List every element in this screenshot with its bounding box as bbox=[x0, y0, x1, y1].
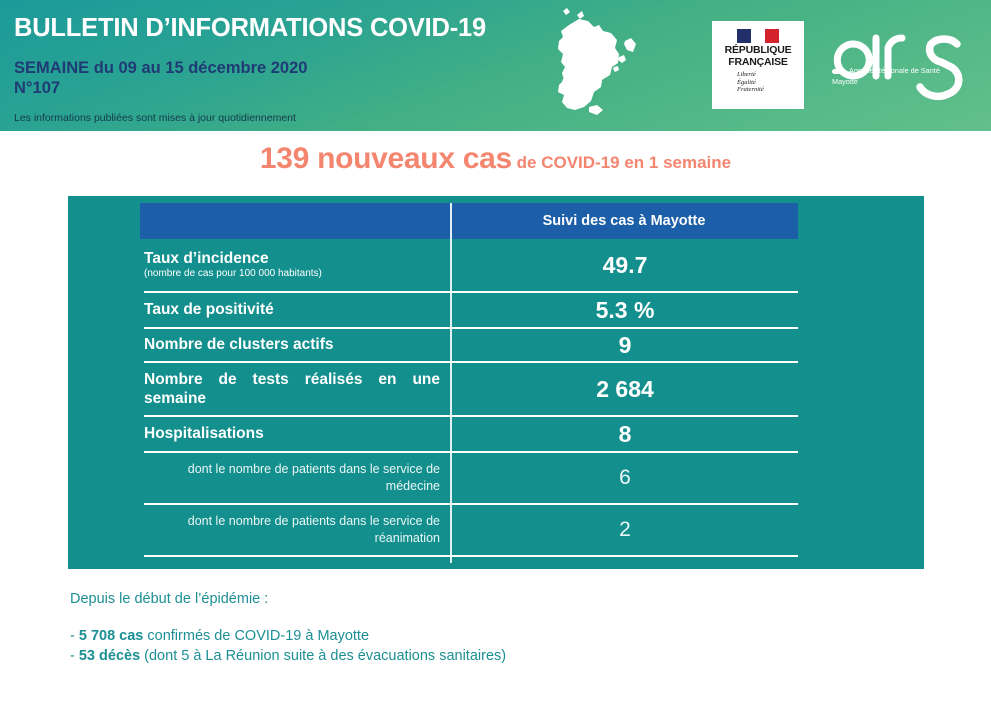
republique-francaise-wordmark: RÉPUBLIQUE FRANÇAISE bbox=[712, 45, 804, 68]
table-row: Taux d’incidence (nombre de cas pour 100… bbox=[140, 239, 798, 291]
table-row: Taux de positivité 5.3 % bbox=[140, 293, 798, 327]
row-sublabel: (nombre de cas pour 100 000 habitants) bbox=[144, 268, 444, 280]
row-label: Hospitalisations bbox=[144, 425, 444, 443]
ars-logo: Agence Régionale de Santé Mayotte bbox=[824, 24, 974, 102]
row-label: dont le nombre de patients dans le servi… bbox=[144, 513, 440, 547]
ars-tagline: Agence Régionale de Santé bbox=[832, 66, 972, 76]
footer-summary: Depuis le début de l’épidémie : - 5 708 … bbox=[70, 590, 870, 666]
header-bulletin-number: N°107 bbox=[14, 79, 60, 98]
table-row: dont le nombre de patients dans le servi… bbox=[140, 505, 798, 555]
row-label: Taux de positivité bbox=[144, 301, 444, 319]
footer-line-cases: - 5 708 cas confirmés de COVID-19 à Mayo… bbox=[70, 626, 870, 646]
row-label: Nombre de tests réalisés en une semaine bbox=[144, 370, 440, 408]
headline-new-cases: 139 nouveaux cas bbox=[260, 142, 512, 175]
row-value: 2 684 bbox=[596, 376, 654, 403]
french-flag-icon bbox=[737, 29, 779, 43]
footer-deaths-text: (dont 5 à La Réunion suite à des évacuat… bbox=[140, 648, 506, 664]
republique-devise: Liberté Égalité Fraternité bbox=[737, 71, 764, 94]
table-header-bar: Suivi des cas à Mayotte bbox=[140, 203, 798, 239]
rf-line-2: FRANÇAISE bbox=[712, 57, 804, 69]
row-value: 5.3 % bbox=[596, 297, 655, 324]
table-row: Hospitalisations 8 bbox=[140, 417, 798, 451]
header-week-subtitle: SEMAINE du 09 au 15 décembre 2020 bbox=[14, 58, 307, 79]
row-value: 6 bbox=[619, 466, 631, 490]
footer-cases-count: 5 708 cas bbox=[79, 628, 144, 644]
table-column-header: Suivi des cas à Mayotte bbox=[450, 203, 798, 239]
page-header: BULLETIN D’INFORMATIONS COVID-19 SEMAINE… bbox=[0, 0, 991, 131]
headline-suffix: de COVID-19 en 1 semaine bbox=[512, 153, 731, 172]
row-value: 8 bbox=[619, 421, 632, 448]
header-update-note: Les informations publiées sont mises à j… bbox=[14, 112, 296, 124]
row-value: 2 bbox=[619, 518, 631, 542]
footer-dash-1: - bbox=[70, 628, 79, 644]
footer-intro: Depuis le début de l’épidémie : bbox=[70, 590, 870, 609]
stats-table: Suivi des cas à Mayotte Taux d’incidence… bbox=[140, 203, 798, 563]
devise-liberte: Liberté bbox=[737, 71, 764, 79]
table-row: dont le nombre de patients dans le servi… bbox=[140, 453, 798, 503]
devise-fraternite: Fraternité bbox=[737, 86, 764, 94]
headline: 139 nouveaux cas de COVID-19 en 1 semain… bbox=[0, 142, 991, 176]
table-row: Nombre de clusters actifs 9 bbox=[140, 329, 798, 361]
footer-dash-2: - bbox=[70, 648, 79, 664]
footer-lines: - 5 708 cas confirmés de COVID-19 à Mayo… bbox=[70, 626, 870, 666]
row-label: dont le nombre de patients dans le servi… bbox=[144, 461, 440, 495]
devise-egalite: Égalité bbox=[737, 79, 764, 87]
footer-cases-text: confirmés de COVID-19 à Mayotte bbox=[143, 628, 369, 644]
stats-panel: Suivi des cas à Mayotte Taux d’incidence… bbox=[68, 196, 924, 569]
row-label: Taux d’incidence bbox=[144, 250, 444, 268]
footer-line-deaths: - 53 décès (dont 5 à La Réunion suite à … bbox=[70, 646, 870, 666]
footer-deaths-count: 53 décès bbox=[79, 648, 140, 664]
page-title: BULLETIN D’INFORMATIONS COVID-19 bbox=[14, 14, 486, 43]
ars-region-label: Mayotte bbox=[832, 77, 858, 86]
rf-line-1: RÉPUBLIQUE bbox=[712, 45, 804, 57]
ars-tagline-text: Agence Régionale de Santé bbox=[849, 66, 940, 75]
ars-pill-icon bbox=[832, 69, 846, 74]
row-value: 49.7 bbox=[603, 252, 648, 279]
row-value: 9 bbox=[619, 332, 632, 359]
mayotte-map-icon bbox=[545, 3, 655, 121]
republique-francaise-logo: RÉPUBLIQUE FRANÇAISE Liberté Égalité Fra… bbox=[712, 21, 804, 109]
table-row: Nombre de tests réalisés en une semaine … bbox=[140, 363, 798, 415]
row-separator bbox=[144, 555, 798, 557]
row-label: Nombre de clusters actifs bbox=[144, 336, 444, 354]
